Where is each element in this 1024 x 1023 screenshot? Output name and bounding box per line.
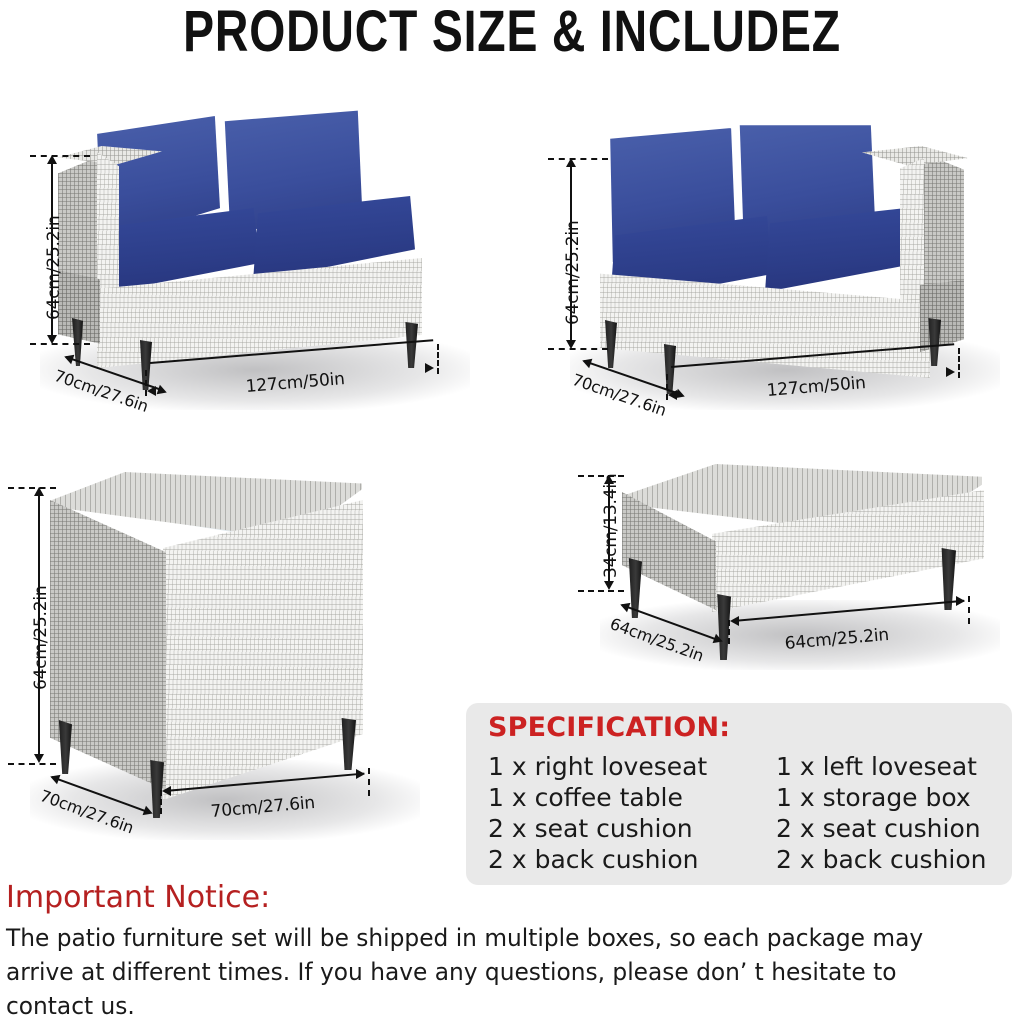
dim-height-coffee-table: 34cm/13.4in bbox=[601, 474, 621, 578]
dim-ext-top-left-ls bbox=[30, 155, 90, 157]
dim-arrow-left-w-right-ls bbox=[668, 390, 677, 400]
dim-ext-top-storage bbox=[8, 487, 56, 489]
spec-item: 1 x storage box bbox=[776, 782, 987, 813]
dim-height-left-loveseat: 64cm/25.2in bbox=[563, 221, 583, 325]
dim-arrow-left-w-storage bbox=[162, 786, 171, 796]
dim-ext-w2-storage bbox=[368, 768, 370, 796]
spec-item: 2 x back cushion bbox=[488, 844, 707, 875]
page-title: PRODUCT SIZE & INCLUDEZ bbox=[102, 2, 921, 62]
storage-box-front bbox=[163, 500, 363, 800]
dim-height-storage-box: 64cm/25.2in bbox=[31, 586, 51, 690]
spec-item: 2 x seat cushion bbox=[488, 813, 707, 844]
dim-ext-bottom-coffee bbox=[578, 590, 624, 592]
dim-ext-bottom-storage bbox=[8, 763, 56, 765]
spec-item: 1 x right loveseat bbox=[488, 751, 707, 782]
specification-box: SPECIFICATION: 1 x right loveseat 1 x co… bbox=[466, 703, 1012, 885]
dim-ext-bottom-right-ls bbox=[548, 348, 608, 350]
dim-ext-w2-left-ls bbox=[437, 344, 439, 374]
important-notice-body: The patio furniture set will be shipped … bbox=[6, 921, 988, 1023]
dim-arrow-up-storage bbox=[34, 487, 44, 496]
dim-arrow-down-coffee bbox=[604, 581, 614, 590]
spec-item: 1 x coffee table bbox=[488, 782, 707, 813]
dim-arrow-down-left-ls bbox=[47, 335, 57, 344]
dim-arrow-right-w-left-ls bbox=[425, 363, 434, 373]
dim-arrow-left-w-left-ls bbox=[147, 386, 156, 396]
dim-arrow-left-w-coffee bbox=[730, 616, 739, 626]
dim-arrow-down-right-ls bbox=[566, 340, 576, 349]
dim-arrow-right-w-coffee bbox=[956, 596, 965, 606]
dim-ext-bottom-left-ls bbox=[30, 343, 90, 345]
important-notice-title: Important Notice: bbox=[6, 880, 270, 915]
dim-ext-w2-right-ls bbox=[958, 348, 960, 378]
dim-arrow-down-storage bbox=[34, 754, 44, 763]
dim-height-right-loveseat: 64cm/25.2in bbox=[44, 216, 64, 320]
spec-item: 2 x seat cushion bbox=[776, 813, 987, 844]
dim-arrow-right-w-right-ls bbox=[946, 367, 955, 377]
dim-arrow-right-w-storage bbox=[356, 769, 365, 779]
dim-ext-top-right-ls bbox=[548, 158, 608, 160]
specification-column-left: 1 x right loveseat 1 x coffee table 2 x … bbox=[488, 751, 707, 875]
specification-title: SPECIFICATION: bbox=[488, 712, 730, 743]
dim-arrow-up-right-ls bbox=[566, 158, 576, 167]
specification-column-right: 1 x left loveseat 1 x storage box 2 x se… bbox=[776, 751, 987, 875]
dim-arrow-up-left-ls bbox=[47, 155, 57, 164]
spec-item: 2 x back cushion bbox=[776, 844, 987, 875]
spec-item: 1 x left loveseat bbox=[776, 751, 987, 782]
dim-ext-w2-coffee bbox=[968, 596, 970, 624]
